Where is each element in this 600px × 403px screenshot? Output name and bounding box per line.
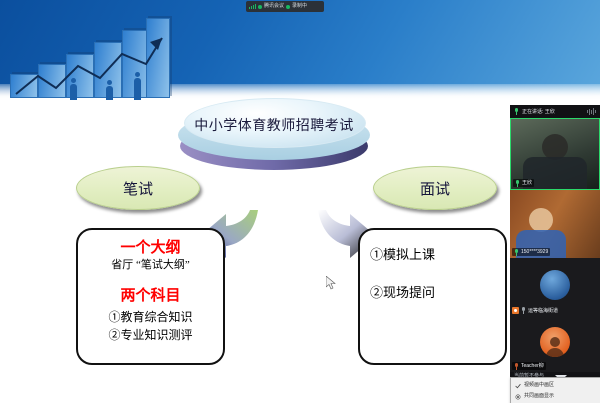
menu-item[interactable]: 共同画面显示 (511, 391, 600, 402)
radio-icon (515, 394, 521, 400)
record-icon (286, 5, 290, 9)
trend-arrow-icon (12, 32, 167, 98)
audio-waveform-icon (587, 108, 596, 115)
microphone-on-icon (514, 249, 519, 256)
slide-title-disc: 中小学体育教师招聘考试 (176, 96, 372, 174)
written-exam-detail-box: 一个大纲 省厅 “笔试大纲” 两个科目 ①教育综合知识 ②专业知识测评 (76, 228, 225, 365)
video-tile-label: 王欣 (513, 179, 534, 187)
meeting-status-bar[interactable]: 腾讯会议 录制中 (246, 1, 324, 12)
meeting-app-label: 腾讯会议 (264, 4, 284, 9)
active-speaker-header: 正在讲话: 王欣 (510, 105, 600, 118)
interview-item-1: ①模拟上课 (370, 244, 435, 263)
branch-oval-interview: 面试 (373, 166, 497, 210)
3d-bar-chart-growth-icon (8, 22, 173, 104)
video-tile[interactable]: 运等临海街道 (510, 258, 600, 316)
video-tile[interactable]: 150****3929 (510, 190, 600, 258)
video-tile-label: 运等临海街道 (512, 307, 558, 314)
mouse-pointer-icon (326, 276, 336, 290)
video-participants-rail[interactable]: 正在讲话: 王欣 王欣 150****3929 (510, 105, 600, 403)
recording-status-label: 录制中 (292, 4, 307, 9)
branch-oval-written-exam: 笔试 (76, 166, 200, 210)
signal-bars-icon (249, 4, 256, 9)
written-item-1: ①教育综合知识 (78, 308, 223, 325)
screen: 中小学体育教师招聘考试 笔试 面试 (0, 0, 600, 403)
host-badge-icon (512, 307, 519, 314)
avatar (540, 327, 570, 357)
context-menu[interactable]: 视频画中画区 共同画面显示 (510, 377, 600, 403)
video-tile[interactable]: 王欣 (510, 118, 600, 190)
video-tile[interactable]: Teacher柳 (510, 316, 600, 372)
written-item-2: ②专业知识测评 (78, 326, 223, 343)
microphone-muted-icon (521, 307, 526, 314)
avatar (540, 270, 570, 300)
written-heading-2: 两个科目 (78, 284, 223, 305)
page-title: 中小学体育教师招聘考试 (176, 96, 372, 154)
microphone-on-icon (514, 108, 519, 115)
interview-item-2: ②现场提问 (370, 282, 435, 301)
video-tile-label: 150****3929 (512, 248, 550, 256)
microphone-icon (258, 5, 262, 9)
menu-item[interactable]: 视频画中画区 (511, 380, 600, 391)
check-icon (515, 383, 521, 389)
written-heading-1: 一个大纲 (78, 236, 223, 257)
interview-detail-box: ①模拟上课 ②现场提问 (358, 228, 507, 365)
microphone-on-icon (515, 180, 520, 187)
written-sub-1: 省厅 “笔试大纲” (78, 256, 223, 272)
active-speaker-label: 正在讲话: 王欣 (522, 108, 555, 115)
